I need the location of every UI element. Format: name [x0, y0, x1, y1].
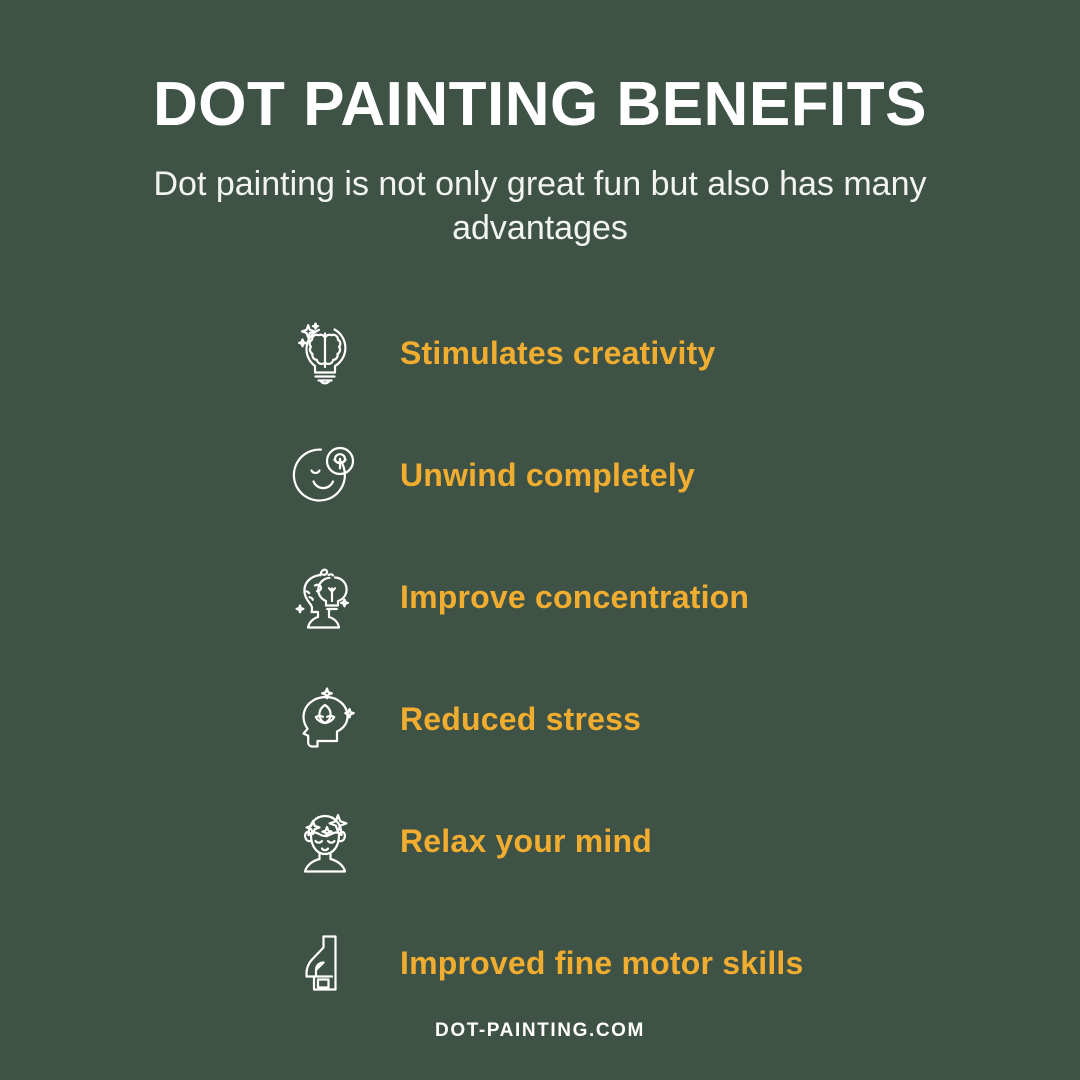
list-item: Improve concentration: [288, 536, 910, 658]
benefit-list: Stimulates creativity Unwind completely: [170, 292, 910, 1024]
page-title: DOT PAINTING BENEFITS: [153, 72, 927, 137]
poster-canvas: DOT PAINTING BENEFITS Dot painting is no…: [0, 0, 1080, 1080]
list-item: Improved fine motor skills: [288, 902, 910, 1024]
head-profile-lightbulb-icon: [288, 560, 362, 634]
list-item-label: Unwind completely: [400, 457, 695, 494]
lightbulb-brain-sparkle-icon: [288, 316, 362, 390]
list-item-label: Improve concentration: [400, 579, 749, 616]
footer-website: DOT-PAINTING.COM: [0, 1020, 1080, 1042]
head-lotus-sparkle-icon: [288, 682, 362, 756]
calm-face-sparkle-icon: [288, 804, 362, 878]
smiley-face-flower-icon: [288, 438, 362, 512]
list-item-label: Relax your mind: [400, 823, 652, 860]
list-item-label: Stimulates creativity: [400, 335, 715, 372]
list-item: Relax your mind: [288, 780, 910, 902]
hand-holding-block-icon: [288, 926, 362, 1000]
list-item: Stimulates creativity: [288, 292, 910, 414]
list-item-label: Reduced stress: [400, 701, 641, 738]
list-item-label: Improved fine motor skills: [400, 945, 804, 982]
list-item: Unwind completely: [288, 414, 910, 536]
list-item: Reduced stress: [288, 658, 910, 780]
page-subtitle: Dot painting is not only great fun but a…: [130, 163, 950, 250]
